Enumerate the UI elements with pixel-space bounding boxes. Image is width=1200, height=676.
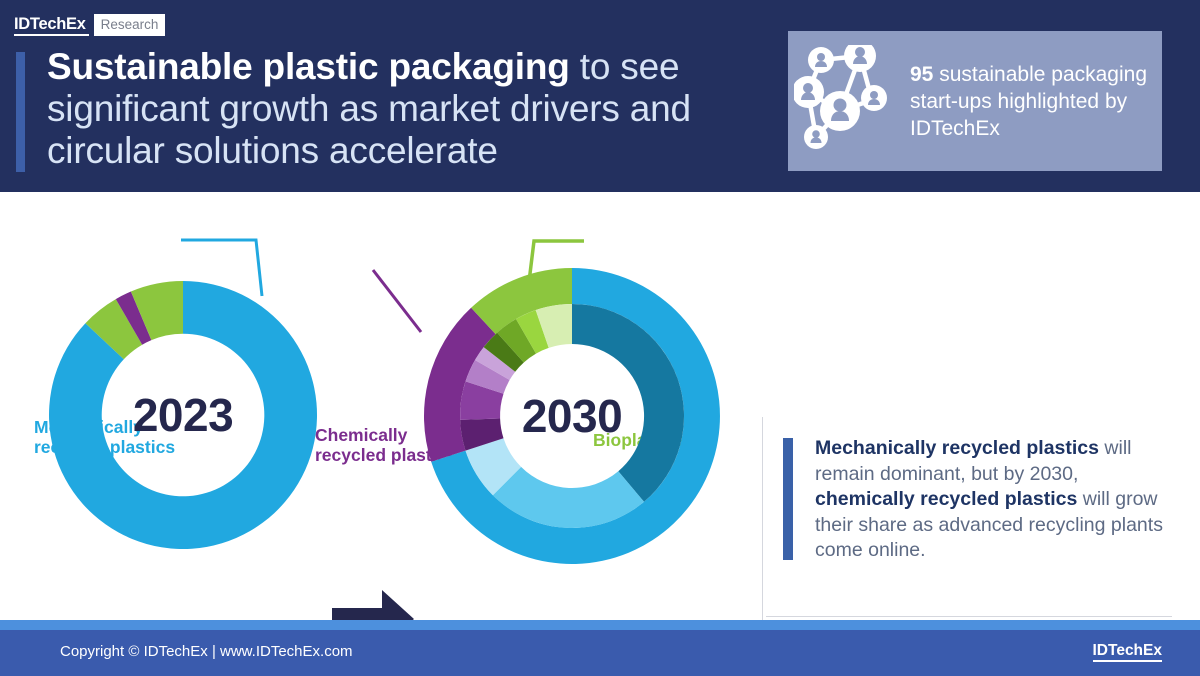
insight-panel-1: Mechanically recycled plastics will rema… bbox=[783, 436, 1183, 564]
page-title-emphasis: Sustainable plastic packaging bbox=[47, 46, 570, 87]
donut-chart-2030: 2030 bbox=[418, 262, 726, 570]
footer-accent-strip bbox=[0, 620, 1200, 630]
footer: Copyright © IDTechEx | www.IDTechEx.com … bbox=[0, 630, 1200, 676]
network-people-icon bbox=[788, 41, 910, 161]
logo-wordmark: IDTechEx bbox=[14, 14, 89, 36]
insight-accent-bar bbox=[783, 438, 793, 560]
donut-year-2023: 2023 bbox=[38, 270, 328, 560]
chart-area: Mechanicallyrecycled plastics Chemically… bbox=[0, 192, 762, 620]
insight-block: Mechanically recycled plastics will rema… bbox=[783, 436, 1183, 564]
infographic-page: IDTechEx Research Sustainable plastic pa… bbox=[0, 0, 1200, 676]
headline-accent-bar bbox=[16, 52, 25, 172]
page-title: Sustainable plastic packaging to see sig… bbox=[47, 46, 757, 172]
main-content: Mechanicallyrecycled plastics Chemically… bbox=[0, 192, 1200, 620]
brand-logo[interactable]: IDTechEx Research bbox=[14, 14, 165, 36]
logo-research-badge: Research bbox=[94, 14, 166, 36]
stat-number: 95 bbox=[910, 63, 933, 86]
panel-horizontal-divider bbox=[766, 616, 1172, 617]
header: IDTechEx Research Sustainable plastic pa… bbox=[0, 0, 1200, 192]
footer-copyright: Copyright © IDTechEx | www.IDTechEx.com bbox=[60, 643, 353, 660]
insight-1-lead: Mechanically recycled plastics bbox=[815, 437, 1099, 459]
insight-1-lead2: chemically recycled plastics bbox=[815, 488, 1077, 510]
insight-text-1: Mechanically recycled plastics will rema… bbox=[815, 436, 1183, 564]
stat-callout-box: 95 sustainable packaging start-ups highl… bbox=[788, 31, 1162, 171]
stat-description: sustainable packaging start-ups highligh… bbox=[910, 63, 1147, 140]
donut-year-2030: 2030 bbox=[418, 262, 726, 570]
footer-logo[interactable]: IDTechEx bbox=[1093, 642, 1163, 662]
donut-chart-2023: 2023 bbox=[38, 270, 328, 560]
stat-callout-text: 95 sustainable packaging start-ups highl… bbox=[910, 61, 1162, 142]
